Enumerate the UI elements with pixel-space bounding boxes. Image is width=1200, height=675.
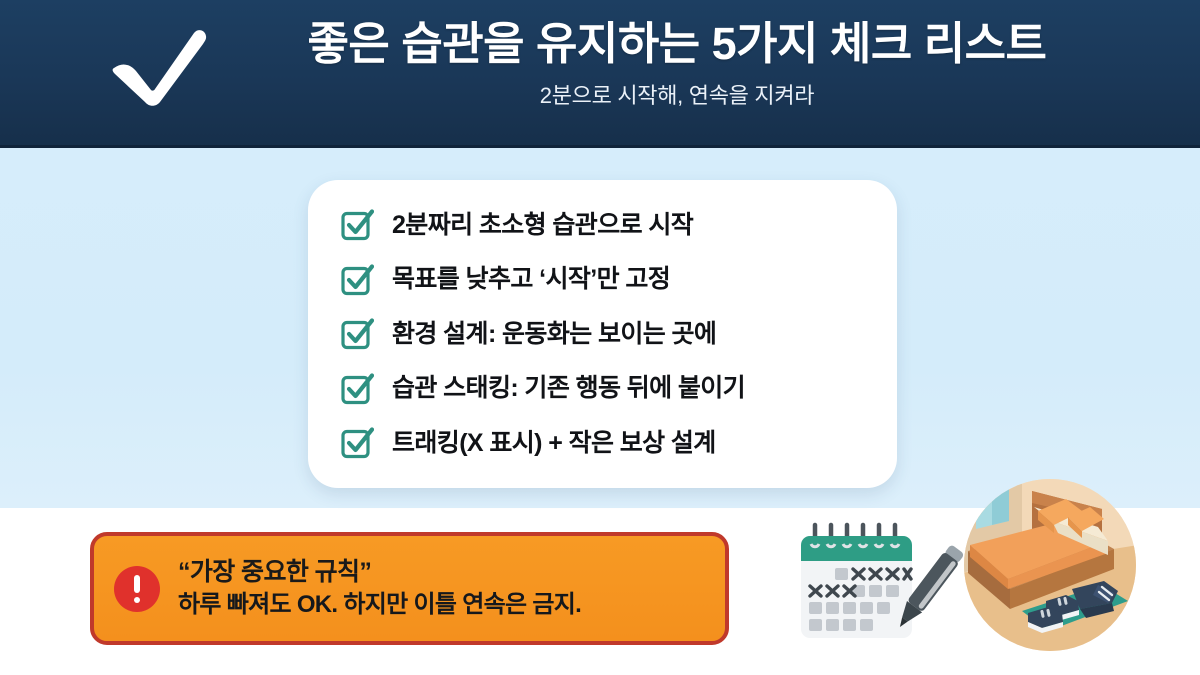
list-item-label: 트래킹(X 표시) + 작은 보상 설계 bbox=[392, 431, 716, 456]
infographic-poster: 좋은 습관을 유지하는 5가지 체크 리스트 2분으로 시작해, 연속을 지켜라… bbox=[0, 0, 1200, 675]
checkbox-checked-icon[interactable] bbox=[340, 317, 374, 351]
list-item-label: 2분짜리 초소형 습관으로 시작 bbox=[392, 213, 693, 238]
header-banner: 좋은 습관을 유지하는 5가지 체크 리스트 2분으로 시작해, 연속을 지켜라 bbox=[0, 0, 1200, 148]
checkbox-checked-icon[interactable] bbox=[340, 263, 374, 297]
list-item[interactable]: 2분짜리 초소형 습관으로 시작 bbox=[340, 198, 879, 253]
page-title: 좋은 습관을 유지하는 5가지 체크 리스트 bbox=[212, 18, 1142, 70]
checkbox-checked-icon[interactable] bbox=[340, 372, 374, 406]
check-mark-icon bbox=[108, 24, 212, 108]
calendar-with-pen-illustration bbox=[795, 522, 970, 652]
list-item[interactable]: 목표를 낮추고 ‘시작’만 고정 bbox=[340, 253, 879, 308]
bedroom-with-sneakers-illustration bbox=[962, 477, 1138, 653]
checkbox-checked-icon[interactable] bbox=[340, 426, 374, 460]
checkbox-checked-icon[interactable] bbox=[340, 208, 374, 242]
checklist: 2분짜리 초소형 습관으로 시작 목표를 낮추고 ‘시작’만 고정 bbox=[340, 198, 879, 471]
checklist-card: 2분짜리 초소형 습관으로 시작 목표를 낮추고 ‘시작’만 고정 bbox=[308, 180, 897, 488]
exclamation-circle-icon bbox=[114, 566, 160, 612]
list-item-label: 환경 설계: 운동화는 보이는 곳에 bbox=[392, 322, 716, 347]
list-item[interactable]: 트래킹(X 표시) + 작은 보상 설계 bbox=[340, 416, 879, 471]
callout-body: 하루 빠져도 OK. 하지만 이틀 연속은 금지. bbox=[178, 591, 725, 620]
list-item[interactable]: 환경 설계: 운동화는 보이는 곳에 bbox=[340, 307, 879, 362]
exclamation-dot bbox=[134, 597, 140, 603]
header-text-group: 좋은 습관을 유지하는 5가지 체크 리스트 2분으로 시작해, 연속을 지켜라 bbox=[212, 18, 1142, 110]
page-subtitle: 2분으로 시작해, 연속을 지켜라 bbox=[212, 78, 1142, 110]
list-item-label: 습관 스태킹: 기존 행동 뒤에 붙이기 bbox=[392, 376, 745, 401]
callout-text-group: “가장 중요한 규칙” 하루 빠져도 OK. 하지만 이틀 연속은 금지. bbox=[178, 557, 725, 620]
list-item-label: 목표를 낮추고 ‘시작’만 고정 bbox=[392, 267, 670, 292]
most-important-rule-callout: “가장 중요한 규칙” 하루 빠져도 OK. 하지만 이틀 연속은 금지. bbox=[90, 532, 729, 645]
exclamation-bar bbox=[134, 575, 140, 593]
callout-title: “가장 중요한 규칙” bbox=[178, 557, 725, 587]
list-item[interactable]: 습관 스태킹: 기존 행동 뒤에 붙이기 bbox=[340, 362, 879, 417]
